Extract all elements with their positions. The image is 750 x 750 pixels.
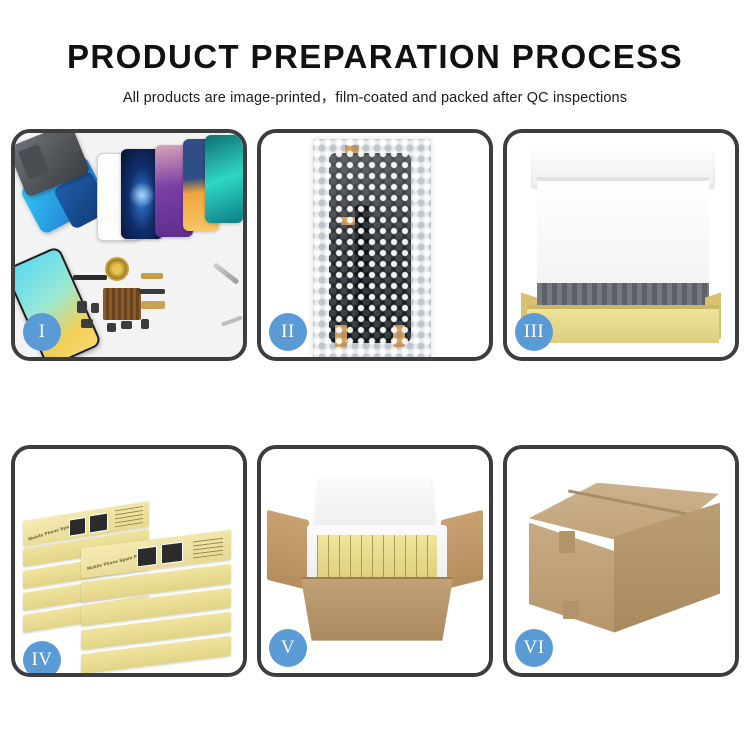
box-screen-image-4	[161, 541, 183, 564]
step-image-2: II	[261, 133, 489, 357]
screwdriver-tool	[221, 315, 243, 326]
step-caption-3: Bubble-wrapped screen placed in yellow i…	[507, 133, 508, 134]
carton-tape-top	[559, 531, 575, 553]
process-steps-grid: I Mobile phone screens and disassembled …	[11, 129, 739, 677]
box-spec-text-1	[115, 506, 143, 527]
logic-board-part	[103, 288, 141, 320]
flex-cable-part-2	[141, 273, 163, 279]
box-front-panel	[527, 309, 719, 343]
step-panel-5: V Boxes packed into foam case inside shi…	[257, 445, 493, 677]
box-spec-text-2	[193, 535, 223, 558]
step-caption-6: Sealed cardboard shipping carton ready f…	[507, 449, 508, 450]
step-badge-3: III	[515, 313, 553, 351]
step-panel-4: Mobile Phone Spare Parts Mobile Phone Sp…	[11, 445, 247, 677]
step-image-4: Mobile Phone Spare Parts Mobile Phone Sp…	[15, 449, 243, 673]
phone-screen-green	[205, 135, 243, 223]
box-screen-image-3	[137, 546, 157, 567]
flex-cable-part-4	[141, 301, 165, 309]
page-title: PRODUCT PREPARATION PROCESS	[0, 40, 750, 75]
step-image-6: VI	[507, 449, 735, 673]
carton-body	[301, 579, 453, 641]
product-preparation-infographic: PRODUCT PREPARATION PROCESS All products…	[0, 0, 750, 750]
step-caption-1: Mobile phone screens and disassembled sp…	[15, 133, 16, 134]
box-stack: Mobile Phone Spare Parts Mobile Phone Sp…	[21, 477, 237, 667]
step-panel-2: II LCD screen assembly sealed in bubble …	[257, 129, 493, 361]
box-screen-image-1	[69, 517, 86, 537]
bubble-wrap-package	[313, 139, 431, 357]
chip-part-3	[81, 319, 93, 328]
step-badge-5: V	[269, 629, 307, 667]
tweezers-tool	[213, 262, 240, 284]
step-image-5: V	[261, 449, 489, 673]
flex-cable-part-1	[73, 275, 107, 280]
step-caption-4: Stacked printed retail boxes	[15, 449, 16, 450]
foam-liner	[537, 181, 709, 289]
step-badge-6: VI	[515, 629, 553, 667]
step-panel-1: I Mobile phone screens and disassembled …	[11, 129, 247, 361]
step-badge-4: IV	[23, 641, 61, 673]
step-image-3: III	[507, 133, 735, 357]
step-panel-6: VI Sealed cardboard shipping carton read…	[503, 445, 739, 677]
chip-part-4	[107, 323, 116, 332]
step-badge-2: II	[269, 313, 307, 351]
header: PRODUCT PREPARATION PROCESS All products…	[0, 0, 750, 107]
step-panel-3: III Bubble-wrapped screen placed in yell…	[503, 129, 739, 361]
flex-cable-part-3	[139, 289, 165, 294]
bubble-texture-highlight	[313, 139, 431, 357]
chip-part-5	[121, 321, 132, 329]
packed-yellow-boxes	[317, 535, 437, 579]
step-badge-1: I	[23, 313, 61, 351]
step-caption-5: Boxes packed into foam case inside shipp…	[261, 449, 262, 450]
chip-part-1	[77, 301, 87, 313]
box-screen-image-2	[89, 512, 108, 533]
step-caption-2: LCD screen assembly sealed in bubble wra…	[261, 133, 262, 134]
page-subtitle: All products are image-printed，film-coat…	[0, 86, 750, 107]
carton-tape-bottom	[563, 601, 579, 619]
chip-part-6	[141, 319, 149, 329]
step-image-1: I	[15, 133, 243, 357]
speaker-coil-part	[105, 257, 129, 281]
chip-part-2	[91, 303, 99, 313]
